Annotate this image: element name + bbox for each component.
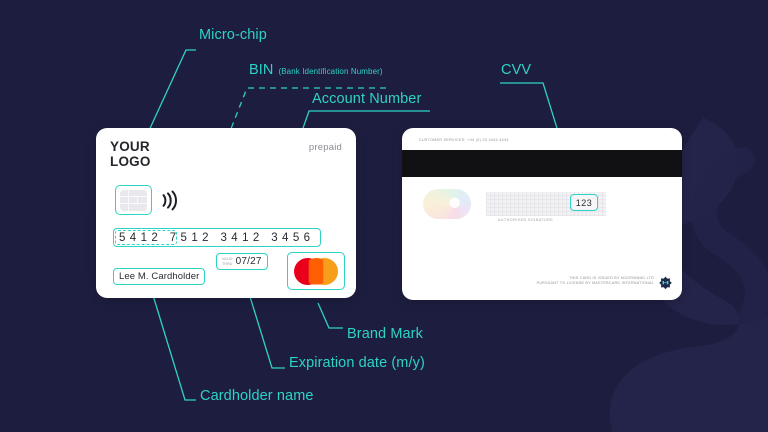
- card-back: CUSTOMER SERVICES: +44 (0) 20 4444 4444 …: [402, 128, 682, 300]
- annotation-cardholder-name: Cardholder name: [200, 388, 314, 404]
- mastercard-logo-icon: [294, 258, 338, 285]
- expiration-date-highlight: VALID THRU 07/27: [216, 253, 268, 270]
- card-legal-text: THIS CARD IS ISSUED BY MOORWAND LTD PURS…: [537, 276, 654, 287]
- micro-chip-icon: [120, 190, 147, 211]
- micro-chip-highlight: [115, 185, 152, 215]
- brand-mark-highlight: [287, 252, 345, 290]
- annotation-bin-label: BIN: [249, 62, 273, 78]
- annotation-cvv: CVV: [501, 62, 531, 78]
- annotation-expiration-date: Expiration date (m/y): [289, 355, 425, 371]
- expiry-value: 07/27: [236, 256, 262, 267]
- mastercard-id-check-icon: [659, 276, 672, 289]
- leader-brand-mark: [318, 303, 343, 328]
- annotation-bin: BIN (Bank Identification Number): [249, 62, 383, 78]
- card-front: YOUR LOGO prepaid 5 4 1 2 7 5 1 2 3 4 1 …: [96, 128, 356, 298]
- infographic-canvas: Micro-chip BIN (Bank Identification Numb…: [0, 0, 768, 432]
- cvv-value: 123: [576, 198, 593, 208]
- card-product-type: prepaid: [309, 142, 342, 153]
- annotation-account-number: Account Number: [312, 91, 421, 107]
- cardholder-name-value: Lee M. Cardholder: [119, 271, 199, 282]
- cardholder-name-highlight: Lee M. Cardholder: [113, 268, 205, 285]
- leader-cardholder-name: [152, 292, 196, 400]
- account-number-highlight: 5 4 1 2 7 5 1 2 3 4 1 2 3 4 5 6: [113, 228, 321, 247]
- card-number: 5 4 1 2 7 5 1 2 3 4 1 2 3 4 5 6: [114, 229, 320, 246]
- signature-strip-label: AUTHORISED SIGNATURE: [498, 218, 553, 222]
- hologram-icon: [423, 189, 471, 219]
- annotation-bin-expansion: (Bank Identification Number): [278, 67, 382, 76]
- annotation-brand-mark: Brand Mark: [347, 326, 423, 342]
- card-logo: YOUR LOGO: [110, 140, 151, 169]
- cvv-highlight: 123: [570, 194, 598, 211]
- expiry-label: VALID THRU: [222, 257, 233, 265]
- contactless-icon: [160, 190, 181, 211]
- customer-services-text: CUSTOMER SERVICES: +44 (0) 20 4444 4444: [419, 138, 509, 142]
- annotation-micro-chip: Micro-chip: [199, 27, 267, 43]
- magnetic-stripe: [402, 150, 682, 177]
